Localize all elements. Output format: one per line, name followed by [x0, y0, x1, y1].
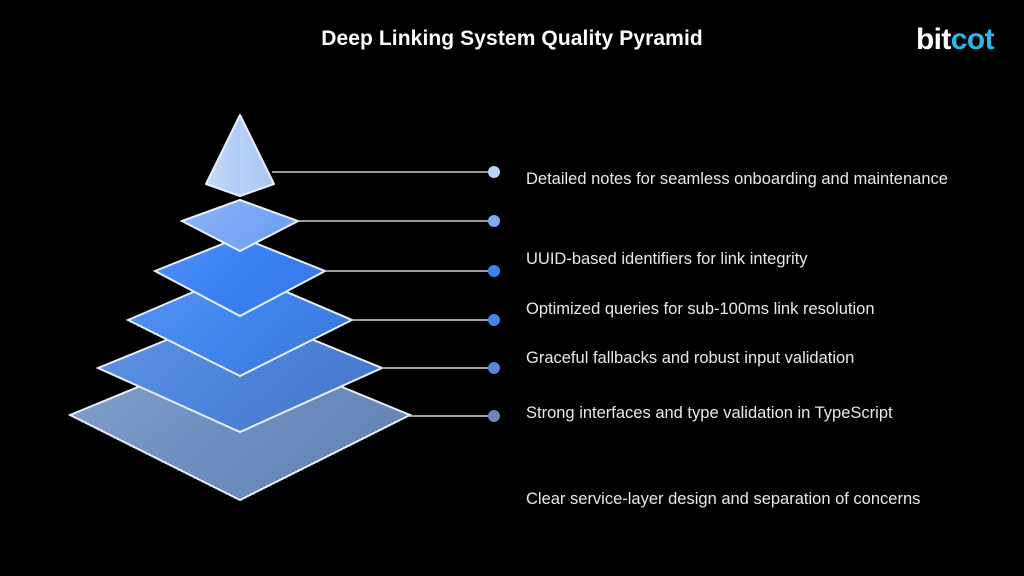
brand-logo-bit: bit	[916, 23, 951, 56]
pyramid-layer-top-left-face	[206, 115, 240, 196]
pyramid-layer-base[interactable]	[70, 345, 410, 500]
pyramid-layer-top[interactable]	[206, 115, 274, 196]
pyramid-layer-second[interactable]	[182, 200, 298, 251]
connector-dot-1[interactable]	[488, 215, 500, 227]
pyramid-layer-fifth-shape	[98, 310, 382, 432]
pyramid-layer-fourth-shape	[128, 272, 352, 376]
pyramid-label-fifth: Strong interfaces and type validation in…	[526, 401, 976, 426]
pyramid-layer-third[interactable]	[155, 237, 325, 316]
connector-lines	[272, 172, 489, 416]
connector-dot-2[interactable]	[488, 265, 500, 277]
pyramid-layer-fourth[interactable]	[128, 272, 352, 376]
connector-dot-5[interactable]	[488, 410, 500, 422]
pyramid-layer-base-shape	[70, 345, 410, 500]
connector-dot-3[interactable]	[488, 314, 500, 326]
connector-dot-4[interactable]	[488, 362, 500, 374]
pyramid-layer-fifth[interactable]	[98, 310, 382, 432]
pyramid-label-fourth: Graceful fallbacks and robust input vali…	[526, 346, 976, 371]
page-title: Deep Linking System Quality Pyramid	[0, 27, 1024, 51]
connector-dot-0[interactable]	[488, 166, 500, 178]
pyramid-label-base: Clear service-layer design and separatio…	[526, 487, 976, 512]
pyramid-label-second: UUID-based identifiers for link integrit…	[526, 247, 976, 272]
pyramid-layer-top-right-face	[240, 115, 274, 196]
pyramid-layer-top-shape	[206, 115, 274, 196]
pyramid-layer-third-shape	[155, 237, 325, 316]
infographic-canvas: Deep Linking System Quality Pyramid bitc…	[0, 0, 1024, 576]
brand-logo: bitcot	[916, 25, 994, 55]
brand-logo-cot: cot	[951, 23, 994, 56]
pyramid-layer-second-shape	[182, 200, 298, 251]
connector-dots	[488, 166, 500, 422]
pyramid-label-third: Optimized queries for sub-100ms link res…	[526, 297, 976, 322]
pyramid-label-top: Detailed notes for seamless onboarding a…	[526, 167, 976, 192]
